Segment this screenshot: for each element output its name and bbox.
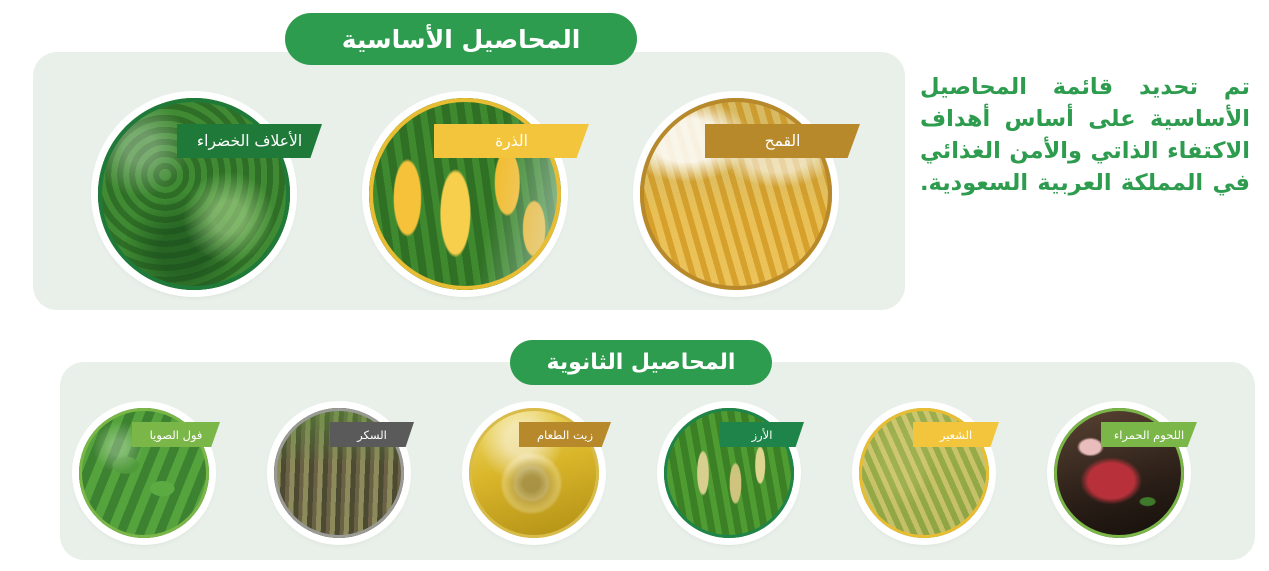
secondary-section-title: المحاصيل الثانوية [510,340,772,385]
crop-label-corn: الذرة [434,124,589,158]
crop-item-green-fodder[interactable]: الأعلاف الخضراء [98,98,290,290]
crop-label-wheat: القمح [705,124,860,158]
crop-item-cooking-oil[interactable]: زيت الطعام [469,408,599,538]
primary-section-title: المحاصيل الأساسية [285,13,637,65]
intro-paragraph: تم تحديد قائمة المحاصيل الأساسية على أسا… [920,72,1250,200]
crop-label-green-fodder: الأعلاف الخضراء [177,124,322,158]
crop-item-rice[interactable]: الأرز [664,408,794,538]
crop-label-sugar: السكر [330,422,414,447]
crop-item-barley[interactable]: الشعير [859,408,989,538]
crop-item-sugar[interactable]: السكر [274,408,404,538]
infographic-canvas: المحاصيل الأساسية الأعلاف الخضراء الذرة … [0,0,1269,571]
crop-label-rice: الأرز [720,422,804,447]
crop-item-soybean[interactable]: فول الصويا [79,408,209,538]
crop-item-corn[interactable]: الذرة [369,98,561,290]
crop-label-red-meat: اللحوم الحمراء [1101,422,1197,447]
crop-label-soybean: فول الصويا [132,422,220,447]
crop-label-cooking-oil: زيت الطعام [519,422,611,447]
crop-item-wheat[interactable]: القمح [640,98,832,290]
crop-item-red-meat[interactable]: اللحوم الحمراء [1054,408,1184,538]
crop-label-barley: الشعير [913,422,999,447]
